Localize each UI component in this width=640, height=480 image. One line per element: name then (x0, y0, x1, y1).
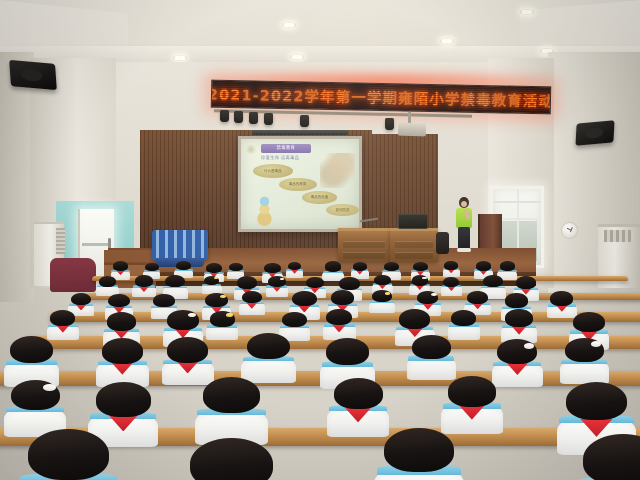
student-hair (448, 376, 497, 407)
student (247, 333, 290, 381)
student-hair (339, 277, 359, 290)
student-hair (50, 310, 75, 326)
student-hair (96, 382, 151, 416)
air-conditioner-right-vent (604, 230, 634, 242)
stage-spotlight (264, 113, 273, 125)
student-hair (10, 336, 53, 363)
student (448, 376, 497, 431)
wall-speaker-right (575, 120, 614, 145)
student-hair-clip (385, 292, 390, 295)
blue-equipment-rack (152, 230, 208, 260)
student-hair-clip (226, 313, 232, 317)
student-hair (247, 333, 290, 360)
student-hair-clip (422, 277, 426, 279)
student (11, 380, 60, 435)
student-hair-clip (591, 341, 601, 347)
student (384, 428, 454, 480)
student (210, 311, 235, 339)
stage-equipment-box (436, 232, 449, 254)
outdoor-handrail (82, 243, 110, 246)
student-hair (384, 262, 399, 271)
student-hair (505, 293, 529, 308)
student-hair (145, 263, 158, 271)
student-hair (306, 277, 324, 288)
presenter-trousers (458, 227, 470, 249)
student (268, 276, 286, 296)
student-hair (412, 335, 450, 359)
student-hair (516, 276, 537, 289)
student-hair (28, 429, 109, 480)
student-hair (353, 262, 367, 271)
projection-screen-surface: 禁毒教育 珍爱生命 远离毒品 什么是毒品 毒品的种类 毒品的危害 如何防范 (241, 139, 359, 229)
podium-drawer (343, 252, 385, 259)
wall-clock (561, 222, 578, 239)
student-hair (264, 263, 281, 274)
stage-spotlight (249, 112, 258, 124)
stage-monitor (398, 214, 428, 229)
student (102, 338, 143, 384)
projection-screen-roller (252, 130, 348, 135)
slide-bubble: 毒品的种类 (279, 178, 317, 192)
student (583, 434, 640, 480)
ceiling-downlight (290, 54, 304, 60)
student-hair (288, 262, 302, 271)
presenter-face (461, 201, 467, 207)
student-hair (203, 377, 261, 413)
student-hair (242, 291, 262, 304)
presenter-shoes (457, 248, 471, 252)
student (444, 261, 457, 276)
assembly-hall-photo: 2021-2022学年第一学期雍陌小学禁毒教育活动 禁毒教育 珍爱生命 远离毒品… (0, 0, 640, 480)
student-hair (566, 382, 628, 421)
student (203, 377, 261, 441)
student-hair (451, 310, 476, 326)
ceiling-downlight (440, 38, 454, 44)
stage-spotlight (300, 115, 309, 127)
student (412, 335, 450, 378)
student (497, 339, 537, 384)
student-hair (399, 309, 430, 328)
student-hair (237, 276, 257, 289)
stage-spotlight (220, 110, 229, 122)
student-hair (326, 338, 369, 365)
ceiling-downlight (520, 9, 534, 15)
student-hair (229, 263, 242, 271)
student (353, 262, 367, 278)
student (135, 275, 154, 296)
slide-illustration-right (320, 153, 355, 187)
student (288, 262, 302, 277)
ceiling-downlight (282, 22, 296, 28)
student-hair-clip (43, 384, 56, 391)
wall-speaker-left (9, 60, 57, 90)
slide-subtitle: 珍爱生命 远离毒品 (261, 155, 313, 161)
student-hair (444, 261, 457, 269)
student-hair (71, 293, 91, 306)
student-hair (443, 277, 459, 287)
ceiling-projector (398, 123, 426, 137)
slide-cartoon-figure (250, 196, 278, 227)
slide-decoration-corner (246, 144, 257, 155)
window-transom (493, 201, 541, 203)
student-hair (476, 261, 491, 270)
maroon-chair[interactable] (50, 258, 96, 292)
student (326, 309, 352, 338)
slide-title: 禁毒教育 (261, 144, 311, 154)
student-hair (153, 294, 174, 307)
student-hair (467, 291, 488, 304)
student (28, 429, 109, 480)
student-hair (282, 312, 306, 327)
student-hair (292, 291, 317, 306)
left-wall-far (0, 52, 34, 302)
student-hair (413, 262, 428, 271)
wooden-podium (338, 228, 390, 262)
student-hair (176, 261, 191, 270)
student (50, 310, 75, 338)
student (505, 309, 534, 341)
stage-spotlight (385, 118, 394, 130)
student-hair (325, 261, 342, 272)
podium-drawer (343, 241, 385, 248)
student (451, 310, 476, 338)
student-hair (505, 309, 534, 327)
slide-bubble: 什么是毒品 (253, 164, 293, 178)
student (242, 291, 262, 313)
slide-bubble: 如何防范 (326, 204, 359, 217)
podium-drawer (395, 252, 433, 259)
wooden-podium (390, 228, 438, 262)
student-hair (107, 312, 136, 330)
student-hair (583, 434, 640, 480)
student (372, 290, 392, 312)
student-hair (483, 275, 503, 288)
ceiling-downlight (173, 55, 187, 61)
student (190, 438, 272, 480)
student-hair (135, 275, 154, 287)
slide-bubble: 毒品的危害 (302, 191, 336, 204)
projection-screen: 禁毒教育 珍爱生命 远离毒品 什么是毒品 毒品的种类 毒品的危害 如何防范 (238, 136, 362, 232)
student-hair (108, 294, 130, 308)
student (204, 276, 219, 293)
student (565, 338, 604, 381)
air-conditioner-left-vent (56, 228, 65, 254)
student (99, 276, 116, 296)
stage-spotlight (234, 111, 243, 123)
student-hair (500, 261, 516, 271)
student-hair (334, 378, 383, 409)
student (334, 378, 383, 433)
student-hair (102, 338, 143, 364)
student-hair (374, 275, 390, 285)
student-hair (384, 428, 454, 472)
student-hair (326, 309, 352, 325)
student-hair (113, 261, 128, 271)
student-hair (167, 337, 208, 362)
student-hair-clip (431, 293, 436, 296)
student (10, 336, 53, 384)
student-hair-clip (524, 343, 534, 349)
led-banner-text: 2021-2022学年第一学期雍陌小学禁毒教育活动 (211, 83, 551, 111)
student (550, 291, 573, 317)
student-hair (206, 263, 222, 273)
student-hair (99, 276, 116, 287)
podium-drawer (395, 241, 433, 248)
presenter-in-green-vest (452, 197, 476, 253)
student-hair (573, 312, 605, 332)
student-hair (331, 290, 354, 305)
student (443, 277, 459, 295)
student-hair (550, 291, 573, 305)
student-hair (190, 438, 272, 480)
